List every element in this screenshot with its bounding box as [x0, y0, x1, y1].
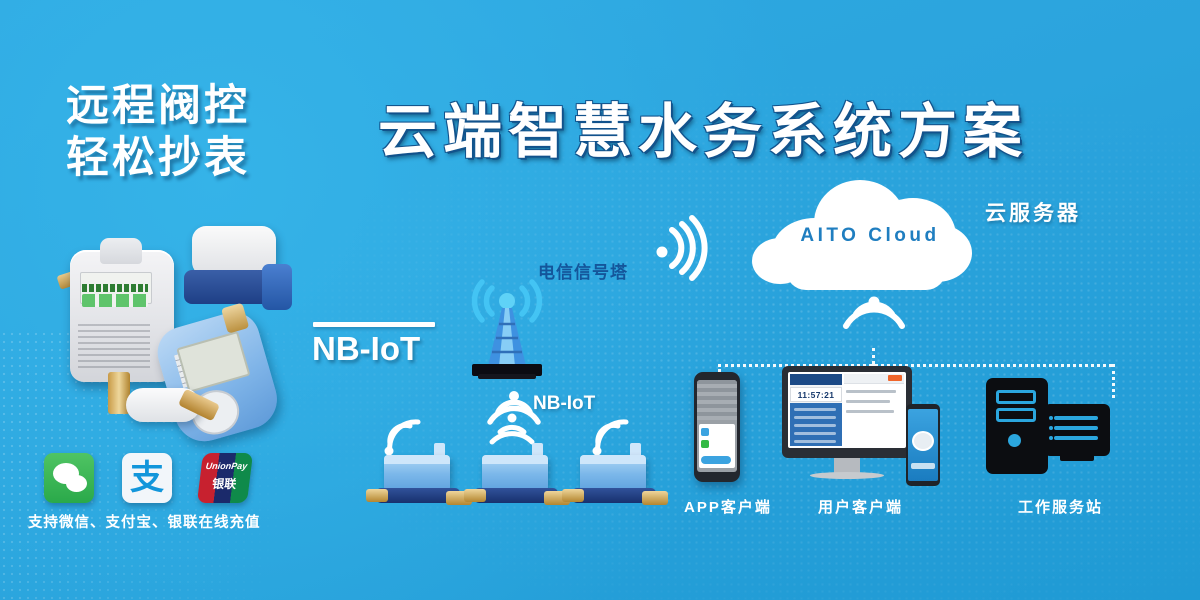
signal-arc-tower-to-cloud-icon [648, 212, 718, 284]
banner-canvas: 远程阀控 轻松抄表 云端智慧水务系统方案 AITO Cloud 云服务器 [0, 0, 1200, 600]
wifi-icon [586, 418, 634, 458]
connector-cloud-to-bus [872, 348, 875, 364]
user-client-monitor: 11:57:21 [782, 366, 912, 486]
headline-left: 远程阀控 轻松抄表 [66, 80, 346, 185]
water-meter-accessory [126, 378, 222, 448]
work-station-icon [986, 378, 1112, 482]
payment-note-label: 支持微信、支付宝、银联在线充值 [28, 511, 261, 532]
confirm-pay-button[interactable] [701, 456, 731, 464]
dashboard-clock: 11:57:21 [790, 387, 842, 402]
wechat-pay-icon [44, 453, 94, 503]
cloud-server-label: 云服务器 [985, 197, 1081, 227]
telecom-tower-icon [458, 270, 556, 382]
unionpay-icon: UnionPay 银联 [197, 453, 253, 503]
alipay-glyph: 支 [122, 453, 172, 503]
signal-arc-cloud-downlink-icon [838, 296, 910, 352]
headline-left-line1: 远程阀控 [66, 80, 346, 132]
connector-bus-horizontal [718, 364, 1112, 367]
nbiot-rule-divider [313, 322, 435, 327]
alipay-option-icon [701, 440, 709, 448]
user-client-phone [906, 404, 940, 486]
connector-bus-to-workstation [1112, 364, 1115, 398]
app-client-phone [694, 372, 740, 482]
wifi-icon [378, 418, 426, 458]
cloud-name-label: AITO Cloud [790, 225, 950, 247]
field-water-meter [566, 455, 662, 519]
wechat-pay-option-icon [701, 428, 709, 436]
field-water-meter [468, 455, 564, 519]
page-title: 云端智慧水务系统方案 [378, 84, 1028, 169]
unionpay-wordmark-cn: 银联 [201, 475, 247, 492]
headline-left-line2: 轻松抄表 [66, 132, 346, 184]
field-water-meter [370, 455, 466, 519]
work-station-label: 工作服务站 [1018, 496, 1103, 517]
alipay-icon: 支 [122, 453, 172, 503]
user-client-label: 用户客户端 [818, 496, 903, 517]
app-client-label: APP客户端 [684, 496, 772, 517]
unionpay-wordmark: UnionPay [204, 461, 249, 471]
dashboard-action-button[interactable] [888, 375, 902, 381]
wifi-icon [486, 410, 538, 452]
nbiot-label-primary: NB-IoT [312, 330, 420, 368]
